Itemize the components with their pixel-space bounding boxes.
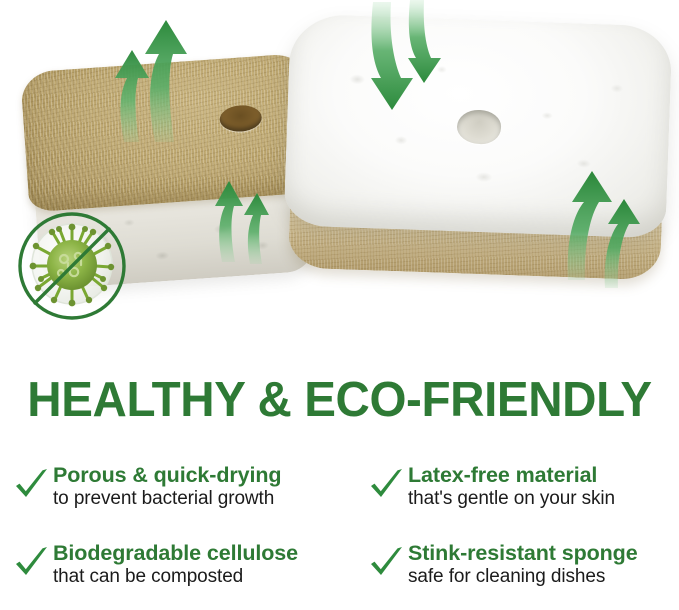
list-item: Biodegradable cellulose that can be comp… xyxy=(0,540,355,610)
feature-subtitle: that's gentle on your skin xyxy=(408,488,615,510)
feature-title: Stink-resistant sponge xyxy=(408,541,638,565)
anti-bacterial-badge xyxy=(16,210,128,322)
airflow-arrow-down-right-small-icon xyxy=(405,0,447,86)
product-feature-image: HEALTHY & ECO-FRIENDLY Porous & quick-dr… xyxy=(0,0,679,610)
page-headline: HEALTHY & ECO-FRIENDLY xyxy=(10,372,669,428)
list-item: Porous & quick-drying to prevent bacteri… xyxy=(0,462,355,540)
check-icon xyxy=(14,468,48,502)
feature-list: Porous & quick-drying to prevent bacteri… xyxy=(0,462,679,610)
feature-text: Stink-resistant sponge safe for cleaning… xyxy=(408,540,638,588)
feature-subtitle: safe for cleaning dishes xyxy=(408,566,638,588)
list-item: Latex-free material that's gentle on you… xyxy=(355,462,679,540)
product-photo xyxy=(0,0,679,370)
feature-text: Latex-free material that's gentle on you… xyxy=(408,462,615,510)
list-item: Stink-resistant sponge safe for cleaning… xyxy=(355,540,679,610)
feature-text: Porous & quick-drying to prevent bacteri… xyxy=(53,462,281,510)
check-icon xyxy=(369,468,403,502)
airflow-arrow-up-left-large-icon xyxy=(137,16,191,142)
feature-text: Biodegradable cellulose that can be comp… xyxy=(53,540,298,588)
airflow-arrow-up-left-mid-b-icon xyxy=(240,190,272,264)
check-icon xyxy=(14,546,48,580)
feature-subtitle: that can be composted xyxy=(53,566,298,588)
feature-subtitle: to prevent bacterial growth xyxy=(53,488,281,510)
airflow-arrow-up-right-small-icon xyxy=(600,196,644,288)
feature-title: Porous & quick-drying xyxy=(53,463,281,487)
check-icon xyxy=(369,546,403,580)
feature-title: Biodegradable cellulose xyxy=(53,541,298,565)
feature-title: Latex-free material xyxy=(408,463,597,487)
